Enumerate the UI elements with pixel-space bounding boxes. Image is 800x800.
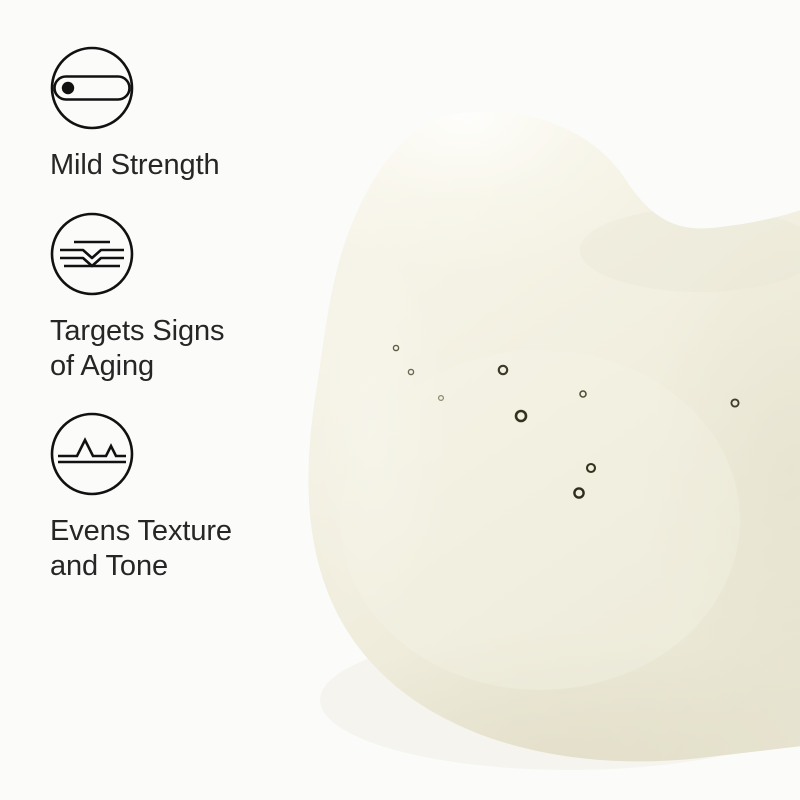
blob-top-gloss: [285, 60, 715, 360]
feature-list: Mild Strength Targets Signs of Aging: [0, 0, 300, 800]
serum-bubbles: [393, 345, 738, 497]
serum-bubble: [516, 411, 526, 421]
blob-left-highlight: [292, 230, 452, 630]
serum-bubble: [580, 391, 586, 397]
blob-right-shade: [640, 210, 800, 730]
blob-ambient-shadow: [320, 630, 800, 770]
serum-bubble: [587, 464, 595, 472]
feature-item-targets-signs-of-aging[interactable]: Targets Signs of Aging: [50, 212, 300, 385]
feature-label-mild-strength: Mild Strength: [50, 148, 300, 183]
feature-item-evens-texture-and-tone[interactable]: Evens Texture and Tone: [50, 412, 300, 585]
serum-bubble: [439, 396, 444, 401]
serum-bubble: [408, 369, 413, 374]
feature-item-mild-strength[interactable]: Mild Strength: [50, 46, 300, 183]
blob-body: [308, 112, 800, 762]
smoothing-lines-icon: [50, 212, 134, 296]
serum-bubble: [574, 488, 583, 497]
blob-bottom-shade: [260, 630, 800, 800]
feature-label-targets-signs-of-aging: Targets Signs of Aging: [50, 314, 300, 385]
toggle-switch-icon: [50, 46, 134, 130]
blob-notch-shade: [580, 208, 800, 292]
texture-peaks-icon: [50, 412, 134, 496]
serum-bubble: [499, 366, 507, 374]
product-feature-panel: Mild Strength Targets Signs of Aging: [0, 0, 800, 800]
feature-label-evens-texture-and-tone: Evens Texture and Tone: [50, 514, 300, 585]
serum-bubble: [731, 399, 738, 406]
serum-bubble: [393, 345, 398, 350]
blob-mid-sheen: [340, 350, 740, 690]
